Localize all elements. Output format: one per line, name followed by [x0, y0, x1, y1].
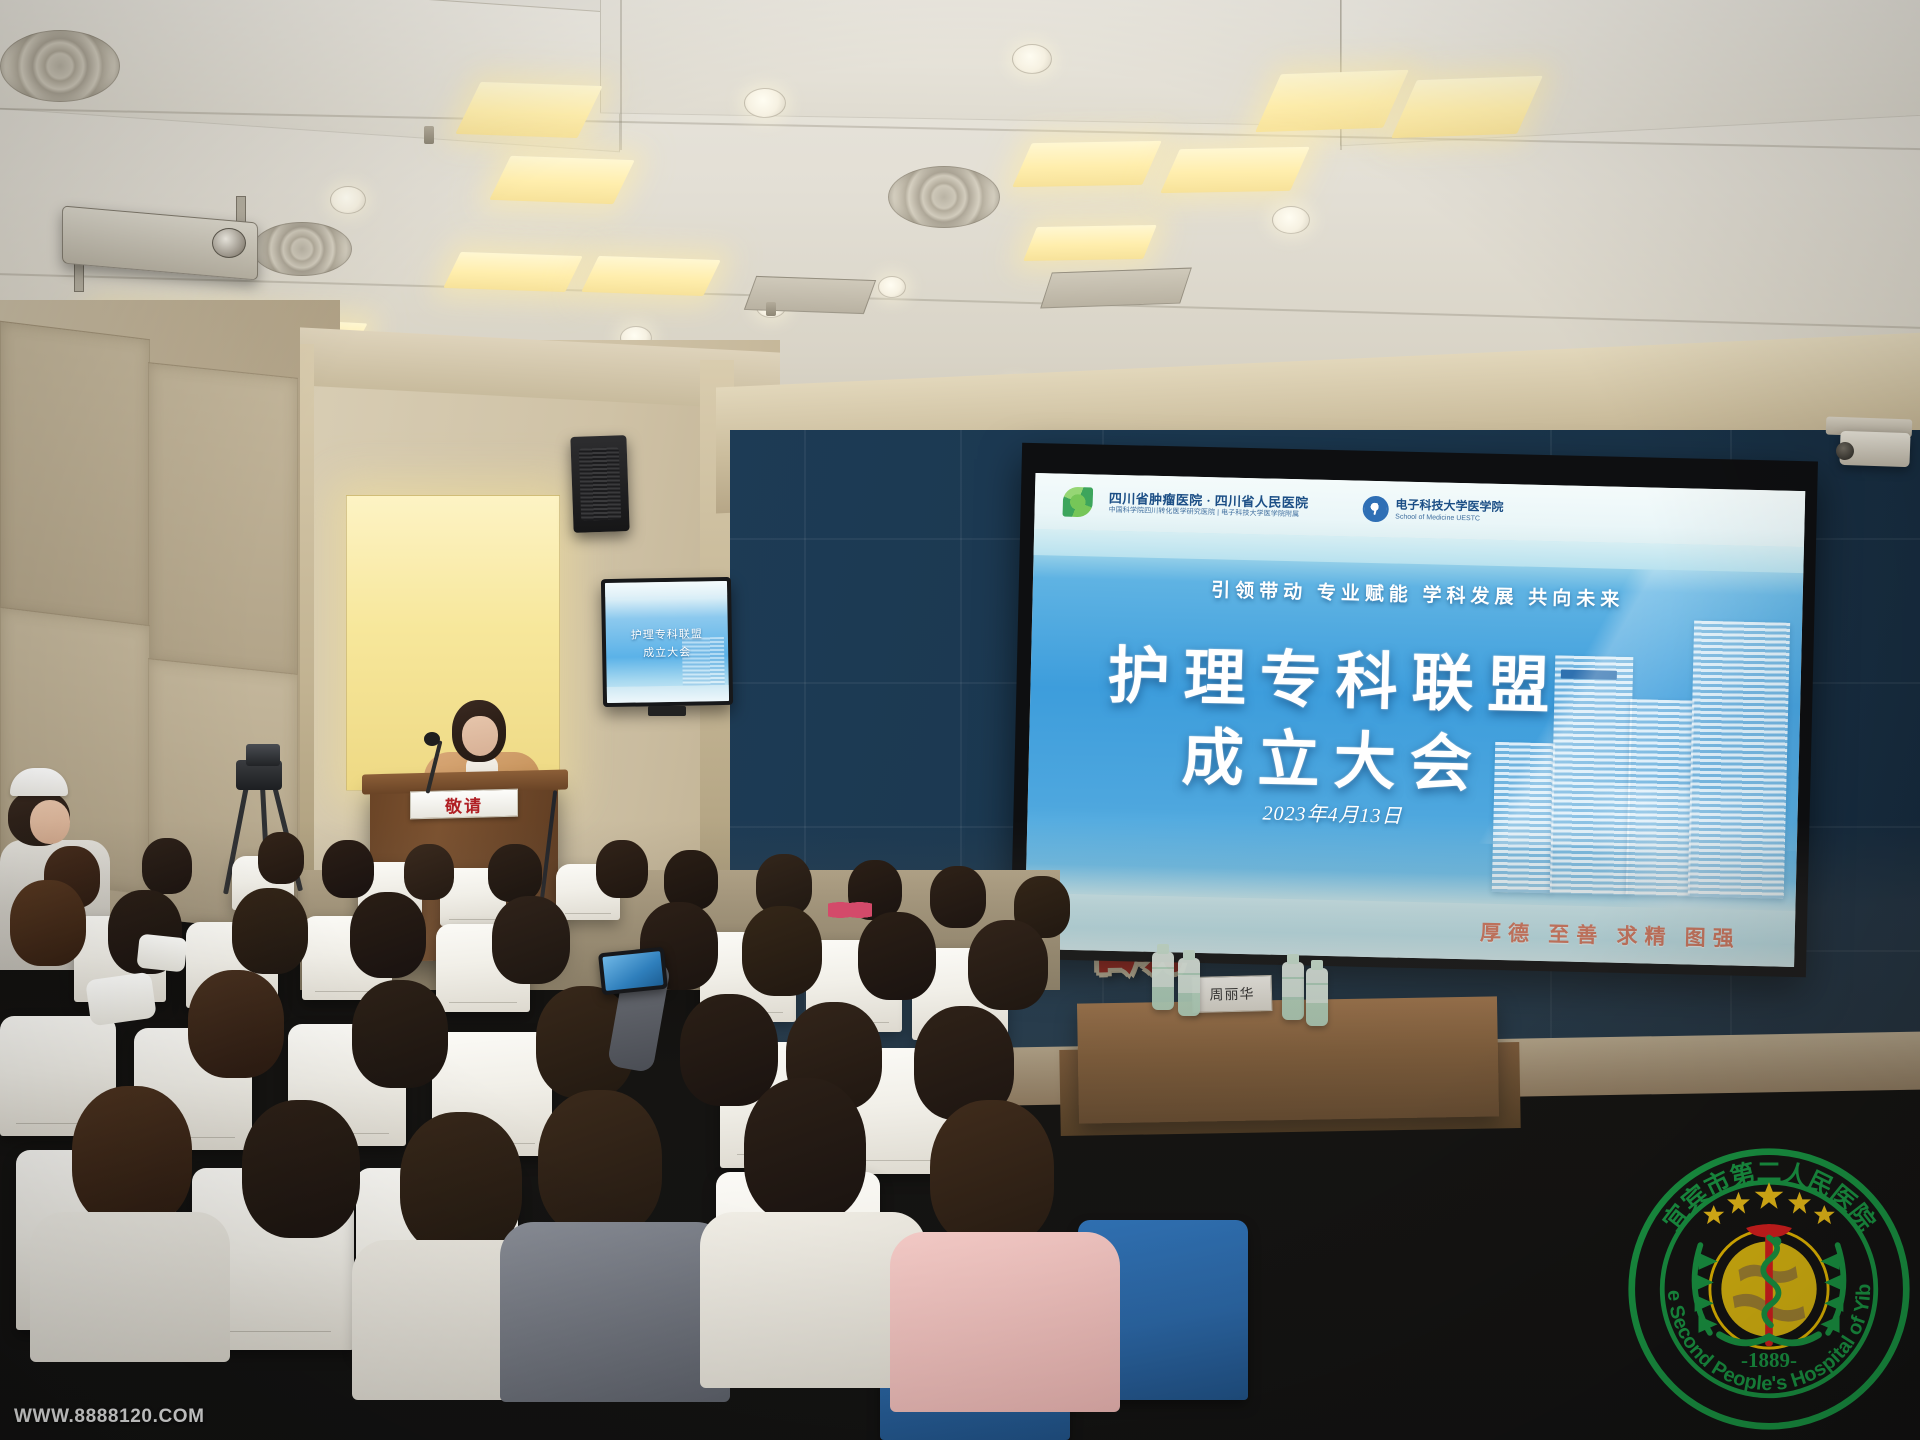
speaker-face: [462, 716, 498, 756]
face-mask: [136, 934, 187, 973]
audience-head: [930, 866, 986, 928]
ceiling-slot-light: [1160, 147, 1310, 193]
microphone-head-icon: [424, 732, 440, 746]
slide-title-line2: 成立大会: [1028, 703, 1640, 807]
air-diffuser: [888, 166, 1000, 228]
ceiling-downlight: [330, 186, 366, 214]
audience-head: [492, 896, 570, 984]
projector-lens: [212, 228, 246, 258]
sprinkler-head: [766, 302, 776, 316]
smartphone: [598, 947, 668, 996]
audience-head: [232, 888, 308, 974]
face-mask: [85, 972, 157, 1027]
monitor-header-band: [605, 581, 727, 597]
audience-head: [10, 880, 86, 966]
sprinkler-head: [424, 126, 434, 144]
wall-speaker: [570, 435, 629, 533]
ceiling-downlight: [744, 88, 786, 118]
air-diffuser: [0, 30, 120, 102]
audience-head: [538, 1090, 662, 1236]
audience-head: [352, 980, 448, 1088]
university-name-en: School of Medicine UESTC: [1395, 513, 1503, 525]
air-diffuser: [252, 222, 352, 276]
audience-head: [664, 850, 718, 910]
audience-head: [404, 844, 454, 900]
ceiling-downlight: [1272, 206, 1310, 234]
audience-head: [930, 1100, 1054, 1246]
ceiling-slot-light: [455, 82, 602, 138]
hospital-logo-text: 四川省肿瘤医院 · 四川省人民医院 中国科学院四川转化医学研究医院 | 电子科技…: [1109, 490, 1309, 520]
monitor-title-line1: 护理专科联盟: [606, 625, 728, 643]
wall-lightbox: [346, 495, 560, 791]
podium-plate-text: 敬请: [445, 791, 483, 817]
ceiling-slot-light: [1012, 141, 1162, 187]
podium-plate: 敬请: [410, 789, 518, 820]
audience-head: [488, 844, 542, 902]
ceiling-downlight: [1012, 44, 1052, 74]
audience-head: [744, 1078, 866, 1222]
smartphone-screen: [602, 951, 663, 991]
preview-monitor: 护理专科联盟 成立大会: [601, 577, 733, 707]
audience-shoulders: [500, 1222, 730, 1402]
uestc-medicine-logo-icon: [1362, 496, 1389, 523]
audience-shoulders: [890, 1232, 1120, 1412]
ceiling-slot-light: [581, 256, 721, 296]
hospital-seal-watermark: 宜宾市第二人民医院 The Second People's Hospital o…: [1626, 1146, 1912, 1432]
ceiling-vent: [744, 276, 876, 314]
green-leaf-logo-icon: [1060, 485, 1095, 520]
ceiling-slot-light: [443, 252, 583, 292]
audience-head: [322, 840, 374, 898]
university-logo-text: 电子科技大学医学院 School of Medicine UESTC: [1395, 497, 1504, 524]
audience-head: [258, 832, 304, 884]
university-logo-block: 电子科技大学医学院 School of Medicine UESTC: [1362, 496, 1504, 525]
audience-head: [968, 920, 1048, 1010]
audience-head: [188, 970, 284, 1078]
tripod-camera: [246, 744, 280, 766]
hair-bow: [828, 898, 872, 922]
monitor-title-line2: 成立大会: [606, 643, 728, 661]
hospital-seal-icon: 宜宾市第二人民医院 The Second People's Hospital o…: [1626, 1146, 1912, 1432]
preview-monitor-stand: [648, 706, 686, 716]
audience-head: [142, 838, 192, 894]
ceiling-slot-light: [489, 156, 634, 204]
ceiling-slot-light: [1023, 225, 1157, 261]
audience-head: [242, 1100, 360, 1238]
audience-head: [400, 1112, 522, 1254]
monitor-footer-band: [607, 685, 729, 703]
audience-head: [680, 994, 778, 1106]
audience-head: [596, 840, 648, 898]
seal-year-text: -1889-: [1741, 1348, 1797, 1372]
url-watermark: WWW.8888120.COM: [14, 1406, 205, 1428]
audience-head: [72, 1086, 192, 1226]
audience-head: [742, 906, 822, 996]
audience-head: [858, 912, 936, 1000]
conference-hall-photo: 大 醫 精 誠 护理专科联盟 成立大会: [0, 0, 1920, 1440]
ceiling-vent: [1040, 268, 1192, 309]
audience-shoulders: [30, 1212, 230, 1362]
preview-monitor-screen: 护理专科联盟 成立大会: [605, 581, 729, 703]
ceiling-downlight: [878, 276, 906, 298]
audience-head: [350, 892, 426, 978]
